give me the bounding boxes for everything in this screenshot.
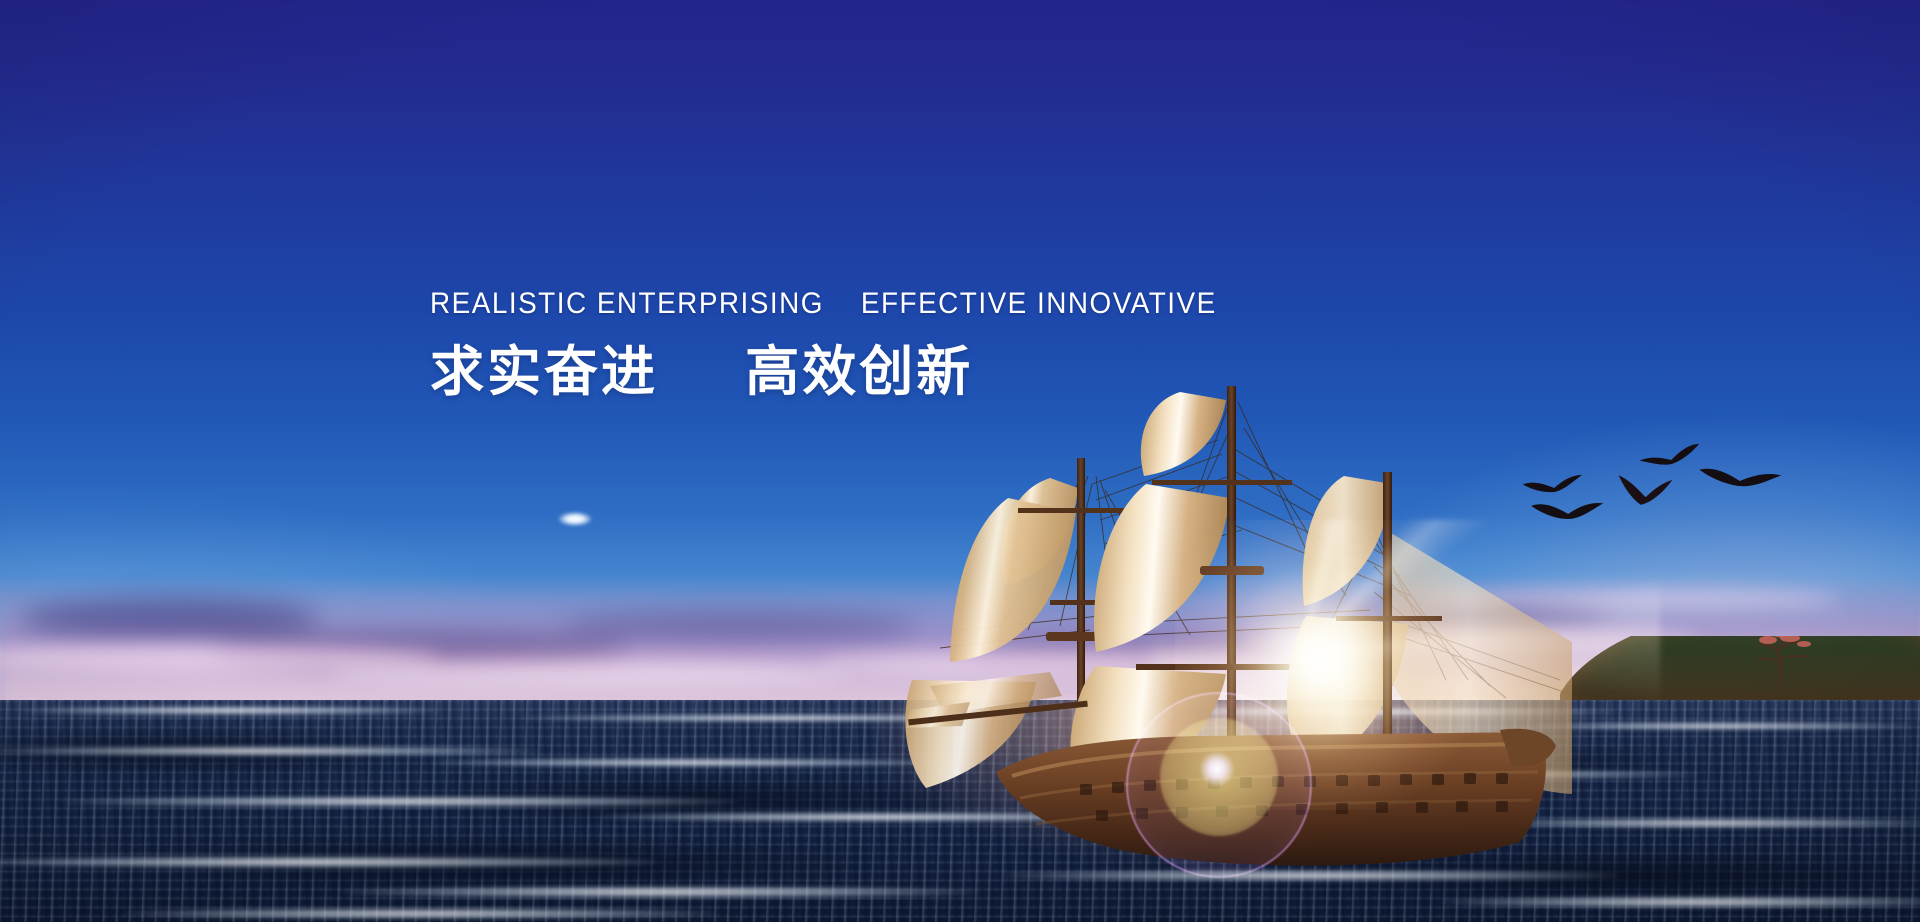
banner-copy: REALISTIC ENTERPRISING EFFECTIVE INNOVAT… [430, 288, 1276, 401]
ocean-foam-15 [120, 908, 720, 919]
cloud-dark-3 [560, 612, 920, 642]
ship-yard-main-2 [1136, 664, 1306, 670]
banner-headline: 求实奋进 高效创新 [430, 342, 1276, 401]
banner-eyebrow: REALISTIC ENTERPRISING EFFECTIVE INNOVAT… [430, 288, 1217, 320]
sail-main-top [1141, 392, 1226, 476]
ocean-foam-6 [430, 758, 950, 767]
ship-crosstree-main [1200, 566, 1264, 575]
lone-tree-icon [1728, 636, 1824, 684]
ship-yard-main-1 [1152, 480, 1292, 485]
banner-stage: REALISTIC ENTERPRISING EFFECTIVE INNOVAT… [0, 0, 1920, 922]
cloud-dark-1 [20, 598, 320, 640]
bird-5 [1698, 464, 1783, 497]
bird-silhouette-icon [1698, 464, 1783, 497]
ocean-foam-1 [20, 706, 440, 715]
ship-yard-mizzen [1336, 616, 1442, 621]
ship-hull-group [996, 729, 1556, 866]
sail-mizzen-top [1303, 476, 1392, 606]
tall-ship [900, 380, 1600, 900]
ocean-foam-7 [60, 796, 740, 807]
tall-ship-illustration [900, 380, 1600, 900]
ocean-foam-5 [0, 746, 540, 756]
ship-hull [996, 732, 1546, 866]
sky-flare-dot [558, 512, 592, 526]
